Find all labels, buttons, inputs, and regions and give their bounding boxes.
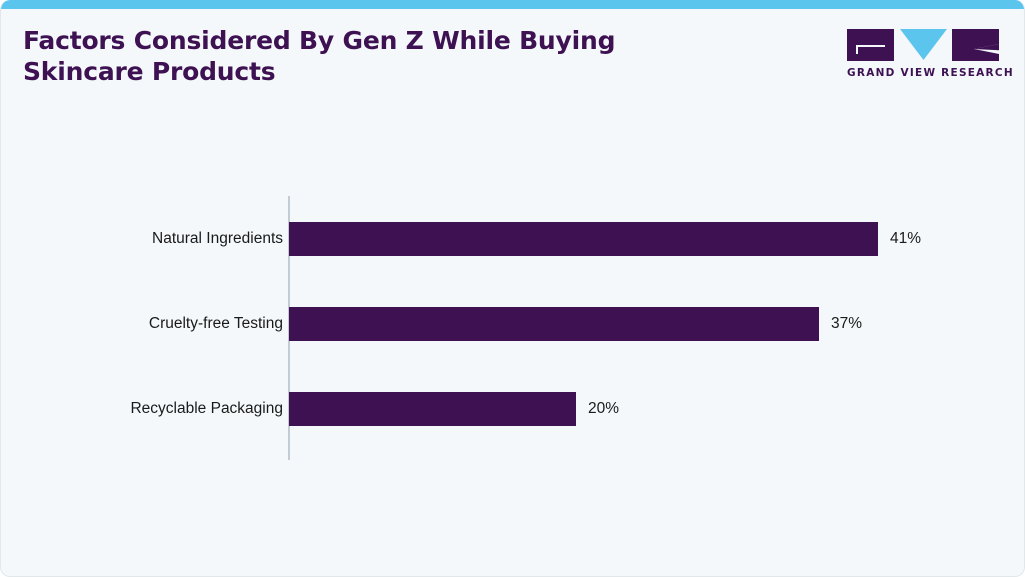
bar-row: Recyclable Packaging 20% [1, 392, 1025, 426]
category-label-natural-ingredients: Natural Ingredients [152, 222, 283, 256]
chart-card: Factors Considered By Gen Z While Buying… [0, 0, 1025, 577]
bar-cruelty-free-testing[interactable] [289, 307, 819, 341]
bar-row: Natural Ingredients 41% [1, 222, 1025, 256]
bar-value-natural-ingredients: 41% [890, 222, 921, 256]
category-label-cruelty-free-testing: Cruelty-free Testing [149, 307, 283, 341]
bar-row: Cruelty-free Testing 37% [1, 307, 1025, 341]
bar-recyclable-packaging[interactable] [289, 392, 576, 426]
bar-natural-ingredients[interactable] [289, 222, 878, 256]
horizontal-bar-chart: Natural Ingredients 41% Cruelty-free Tes… [1, 0, 1025, 577]
bar-value-cruelty-free-testing: 37% [831, 307, 862, 341]
category-label-recyclable-packaging: Recyclable Packaging [130, 392, 283, 426]
bar-value-recyclable-packaging: 20% [588, 392, 619, 426]
